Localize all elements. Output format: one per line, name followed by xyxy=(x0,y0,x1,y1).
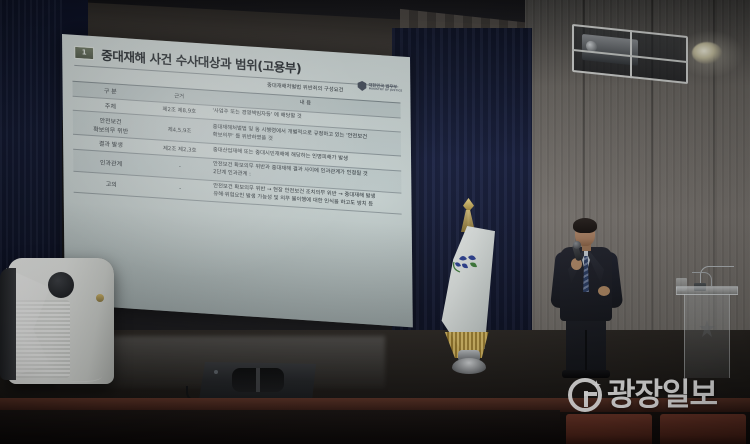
row-category: 고의 xyxy=(73,171,149,198)
seating-shadow xyxy=(0,410,560,444)
slide-table: 중대재해처벌법 위반죄의 구성요건 구 분 근거 내 용 주체제2조 제8,9호… xyxy=(72,68,401,215)
photo-scene: 1 중대재해 사건 수사대상과 범위(고용부) 대한민국 법무부 MINISTR… xyxy=(0,0,750,444)
shield-emblem-icon xyxy=(358,81,367,92)
ginkgo-leaf-emblem-icon xyxy=(452,250,482,278)
pa-speaker-badge xyxy=(96,294,104,302)
institution-emblem-icon xyxy=(696,318,718,340)
presenter-right-hand xyxy=(598,286,610,296)
left-curtain xyxy=(0,0,62,300)
presenter-hair xyxy=(573,218,597,233)
row-legal-basis: - xyxy=(149,176,212,202)
audience-seat xyxy=(566,414,652,444)
audience-seat xyxy=(660,414,746,444)
pa-speaker-driver-icon xyxy=(48,272,74,298)
projection-screen: 1 중대재해 사건 수사대상과 범위(고용부) 대한민국 법무부 MINISTR… xyxy=(62,34,413,327)
stage-monitor-led-icon xyxy=(214,370,218,374)
presenter-shoes xyxy=(562,370,610,378)
microphone-capsule-icon xyxy=(573,241,581,249)
presentation-slide: 1 중대재해 사건 수사대상과 범위(고용부) 대한민국 법무부 MINISTR… xyxy=(62,34,413,327)
flag-base xyxy=(452,358,486,374)
slide-table-body: 주체제2조 제8,9호'사업주 또는 경영책임자등' 에 해당할 것안전보건확보… xyxy=(73,96,402,215)
slide-number-badge: 1 xyxy=(74,46,94,60)
pa-speaker-side-trim xyxy=(0,268,16,380)
pa-speaker-cable xyxy=(56,368,102,382)
recessed-ceiling-light-icon xyxy=(692,42,722,64)
